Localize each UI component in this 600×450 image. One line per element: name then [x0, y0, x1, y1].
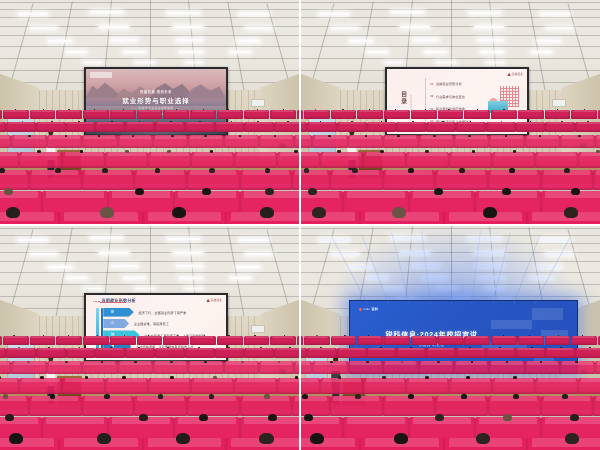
ceiling-light	[400, 26, 430, 28]
auditorium-seat	[307, 348, 337, 358]
audience-head	[381, 121, 383, 122]
logo: 高校就业	[206, 298, 222, 302]
audience-head	[50, 394, 56, 398]
audience-head	[380, 347, 382, 348]
audience-head	[260, 207, 274, 218]
lecture-hall-room: 把握机遇 规划未来 就业形势与职业选择 —— 高校毕业生就业指导讲座 —— 学生…	[0, 0, 299, 224]
audience-head	[434, 188, 443, 195]
auditorium-seat	[56, 110, 82, 119]
slide-title: 就业形势与职业选择	[86, 95, 227, 105]
audience-head	[198, 347, 200, 348]
audience-head	[509, 168, 515, 172]
audience-head	[312, 207, 326, 218]
ceiling-light	[48, 266, 72, 268]
auditorium-seat	[541, 170, 594, 189]
ceiling-tile-line	[0, 9, 299, 10]
audience-head	[558, 335, 559, 336]
auditorium-seat	[363, 378, 406, 394]
university-logo-icon	[90, 72, 112, 78]
audience-head	[295, 376, 299, 379]
auditorium-seat	[137, 110, 163, 119]
audience-head	[176, 109, 177, 110]
audience-head	[204, 135, 207, 137]
auditorium-seat	[541, 396, 594, 415]
audience-head	[257, 121, 259, 122]
ceiling-light	[30, 253, 57, 255]
audience-head	[231, 121, 233, 122]
audience-head	[18, 347, 20, 348]
audience-head	[397, 135, 400, 137]
audience-head	[560, 347, 562, 348]
auditorium-seat	[518, 110, 544, 119]
audience-head	[584, 109, 585, 110]
ceiling-light	[30, 27, 57, 29]
ceiling-light	[236, 266, 260, 268]
auditorium-seat	[571, 336, 597, 345]
decor-block	[532, 308, 564, 319]
auditorium-seat	[518, 336, 544, 345]
audience-head	[177, 335, 178, 336]
seat-row	[301, 348, 600, 358]
audience-head	[320, 121, 322, 122]
audience-head	[4, 188, 13, 195]
audience-head	[139, 121, 141, 122]
audience-head	[342, 109, 343, 110]
audience-head	[148, 335, 149, 336]
auditorium-seat	[297, 110, 299, 119]
auditorium-seat	[155, 348, 185, 358]
auditorium-seat	[274, 122, 299, 132]
audience-head	[167, 347, 169, 348]
auditorium-seat	[191, 378, 234, 394]
auditorium-seat	[578, 378, 600, 394]
audience-head	[241, 361, 244, 363]
ceiling-light	[540, 13, 570, 15]
auditorium-seat	[125, 122, 155, 132]
auditorium-seat	[226, 212, 299, 224]
audience-head	[501, 121, 503, 122]
slide-subtitle: 把握机遇 规划未来	[86, 89, 227, 94]
auditorium-seat	[226, 438, 299, 450]
auditorium-seat	[560, 361, 595, 374]
auditorium-seat	[438, 336, 464, 345]
audience-head	[155, 168, 161, 172]
audience-head	[135, 188, 144, 195]
ceiling-tile-line	[301, 228, 600, 229]
ceiling-tile-line	[0, 228, 299, 229]
auditorium-seat	[11, 361, 46, 374]
seat-row	[0, 122, 299, 132]
audience-head	[410, 347, 412, 348]
logo-mark-icon	[507, 73, 511, 77]
auditorium-seat	[491, 110, 517, 119]
ceiling-light	[176, 265, 203, 267]
auditorium-seat	[301, 135, 312, 148]
ceiling-tile-line	[301, 35, 600, 36]
audience-head	[365, 135, 368, 137]
auditorium-seat	[330, 396, 383, 415]
audience-head	[228, 335, 229, 336]
audience-head	[102, 168, 108, 172]
auditorium-seat	[47, 135, 82, 148]
audience-head	[503, 335, 504, 336]
auditorium-seat	[406, 152, 449, 168]
seat-row	[301, 170, 600, 189]
ceiling-light	[99, 26, 129, 28]
audience-head	[320, 347, 322, 348]
auditorium-seat	[337, 122, 367, 132]
audience-seating	[0, 108, 299, 224]
auditorium-seat	[593, 396, 600, 415]
ceiling-light	[477, 39, 504, 41]
audience-head	[513, 394, 519, 398]
audience-seating	[301, 108, 600, 224]
ceiling-light	[123, 51, 147, 52]
auditorium-seat	[525, 135, 560, 148]
auditorium-seat	[0, 212, 59, 224]
seat-row	[0, 396, 299, 415]
auditorium-seat	[11, 135, 46, 148]
audience-head	[506, 361, 509, 363]
audience-head	[0, 376, 1, 379]
auditorium-seat	[143, 438, 226, 450]
audience-head	[284, 335, 285, 336]
seat-row	[0, 438, 299, 450]
audience-head	[425, 150, 429, 153]
seat-row	[301, 336, 600, 345]
ceiling-light	[349, 40, 373, 42]
wall-notice	[251, 325, 265, 334]
ceiling-light	[385, 288, 403, 289]
audience-head	[564, 207, 578, 218]
auditorium-seat	[187, 396, 240, 415]
audience-head	[433, 135, 436, 137]
auditorium-seat	[464, 110, 490, 119]
auditorium-seat	[0, 135, 11, 148]
audience-head	[259, 433, 273, 444]
auditorium-seat	[6, 122, 36, 132]
auditorium-seat	[83, 336, 109, 345]
auditorium-seat	[545, 336, 571, 345]
ceiling-light	[537, 40, 561, 42]
auditorium-seat	[491, 336, 517, 345]
audience-head	[442, 121, 444, 122]
audience-head	[449, 335, 450, 336]
auditorium-seat	[492, 152, 535, 168]
ceiling-light	[391, 11, 424, 13]
audience-seating	[301, 334, 600, 450]
auditorium-seat	[0, 170, 29, 189]
warning-icon: ⚠	[110, 321, 114, 326]
ceiling-light	[230, 51, 251, 52]
ceiling-light	[537, 266, 561, 268]
auditorium-seat	[545, 110, 571, 119]
bullet-dots-icon	[93, 301, 100, 303]
photo-collage: 把握机遇 规划未来 就业形势与职业选择 —— 高校毕业生就业指导讲座 —— 学生…	[0, 0, 600, 450]
audience-head	[459, 168, 465, 172]
auditorium-seat	[411, 110, 437, 119]
audience-head	[289, 347, 291, 348]
seat-row	[0, 348, 299, 358]
ceiling-tile-line	[0, 2, 299, 3]
auditorium-seat	[331, 336, 357, 345]
audience-head	[425, 376, 429, 379]
auditorium-seat	[82, 361, 117, 374]
ceiling-tile-line	[0, 46, 299, 47]
audience-head	[104, 394, 110, 398]
auditorium-seat	[330, 170, 383, 189]
auditorium-seat	[419, 361, 454, 374]
audience-head	[483, 207, 497, 218]
auditorium-seat	[489, 135, 524, 148]
ceiling-light	[239, 13, 269, 15]
auditorium-seat	[301, 438, 360, 450]
ceiling-light	[66, 277, 87, 278]
audience-head	[287, 121, 289, 122]
auditorium-seat	[188, 361, 223, 374]
auditorium-seat	[489, 361, 524, 374]
ceiling-light	[84, 62, 102, 63]
audience-head	[529, 109, 530, 110]
audience-head	[294, 150, 298, 153]
audience-head	[368, 335, 369, 336]
auditorium-seat	[449, 152, 492, 168]
ceiling-light	[239, 239, 269, 241]
auditorium-seat	[185, 348, 215, 358]
decor-block	[491, 320, 532, 329]
auditorium-seat	[62, 152, 105, 168]
ceiling-light	[167, 238, 200, 240]
audience-head	[13, 335, 14, 336]
ceiling-tile-line	[0, 261, 299, 262]
auditorium-seat	[301, 378, 320, 394]
auditorium-seat	[234, 378, 277, 394]
contents-heading: 目录	[399, 91, 405, 105]
panel-3-employment-analysis: 当前就业形势分析 高校就业 ⚙ 经济下行，全	[0, 226, 299, 450]
auditorium-seat	[516, 348, 546, 358]
audience-head	[472, 150, 476, 153]
audience-head	[65, 361, 68, 363]
auditorium-seat	[215, 348, 245, 358]
audience-head	[65, 135, 68, 137]
auditorium-seat	[118, 361, 153, 374]
auditorium-seat	[240, 170, 293, 189]
audience-head	[40, 376, 44, 379]
audience-head	[531, 347, 533, 348]
auditorium-seat	[426, 122, 456, 132]
wall-notice	[552, 99, 566, 108]
ceiling-light	[391, 237, 424, 239]
logo-text-cn: 锐科	[372, 307, 379, 311]
audience-head	[338, 376, 342, 379]
audience-head	[344, 335, 345, 336]
logo-text: 高校就业	[211, 298, 222, 302]
ceiling-light	[176, 39, 203, 41]
audience-head	[396, 335, 397, 336]
auditorium-seat	[185, 122, 215, 132]
auditorium-seat	[29, 170, 82, 189]
list-item: 01 当前就业形势分析	[430, 81, 479, 86]
ceiling-light	[18, 239, 48, 241]
ceiling-light	[245, 27, 272, 29]
auditorium-seat	[30, 336, 56, 345]
audience-head	[328, 135, 331, 137]
auditorium-seat	[575, 348, 600, 358]
auditorium-seat	[454, 135, 489, 148]
audience-head	[268, 414, 277, 421]
panel-4-campus-recruitment: ruiko 锐科 锐科信息·2024年校招宣讲 ·伴随我 职业站· 2024.4…	[301, 226, 600, 450]
audience-head	[380, 150, 384, 153]
audience-head	[412, 121, 414, 122]
audience-head	[134, 361, 137, 363]
audience-head	[589, 347, 591, 348]
auditorium-seat	[578, 152, 600, 168]
audience-head	[97, 433, 111, 444]
ceiling-light	[531, 51, 552, 52]
auditorium-seat	[411, 336, 437, 345]
audience-head	[561, 121, 563, 122]
auditorium-seat	[516, 122, 546, 132]
auditorium-seat	[66, 348, 96, 358]
audience-head	[304, 414, 313, 421]
audience-head	[97, 335, 98, 336]
list-item: ⚠ 企业融资难，停招辞员工	[103, 319, 220, 328]
ceiling-light	[367, 51, 388, 52]
ceiling-light	[179, 51, 203, 52]
seat-row	[301, 110, 600, 119]
auditorium-seat	[187, 170, 240, 189]
audience-head	[274, 135, 277, 137]
logo-dot-icon	[359, 308, 362, 311]
audience-head	[122, 376, 126, 379]
auditorium-seat	[259, 361, 294, 374]
auditorium-seat	[270, 336, 296, 345]
seat-row	[301, 135, 600, 148]
audience-head	[461, 394, 467, 398]
ceiling-light	[331, 253, 358, 255]
auditorium-seat	[304, 110, 330, 119]
lecture-hall-room: 高校就业 目录 CONTENTS 01 当前就业形势分析 02 行业需求与岗位变…	[301, 0, 600, 224]
auditorium-seat	[190, 336, 216, 345]
audience-head	[203, 109, 204, 110]
audience-head	[570, 414, 579, 421]
ceiling-light	[436, 288, 457, 289]
audience-head	[264, 394, 270, 398]
seat-row	[0, 212, 299, 224]
audience-head	[51, 121, 53, 122]
auditorium-seat	[277, 378, 299, 394]
auditorium-seat	[95, 122, 125, 132]
auditorium-seat	[163, 336, 189, 345]
ceiling-light	[18, 13, 48, 15]
auditorium-seat	[82, 170, 135, 189]
seat-row	[0, 135, 299, 148]
auditorium-seat	[191, 152, 234, 168]
audience-head	[172, 207, 186, 218]
ceiling-light	[135, 288, 156, 289]
arrow-shape: ⚠	[103, 319, 129, 328]
audience-head	[100, 207, 114, 218]
audience-head	[265, 188, 274, 195]
auditorium-seat	[560, 135, 595, 148]
auditorium-seat	[575, 122, 600, 132]
audience-head	[596, 150, 600, 153]
auditorium-seat	[357, 110, 383, 119]
audience-head	[471, 361, 474, 363]
seat-row	[0, 170, 299, 189]
audience-head	[199, 121, 201, 122]
auditorium-seat	[244, 348, 274, 358]
auditorium-seat	[396, 122, 426, 132]
auditorium-seat	[571, 110, 597, 119]
audience-head	[22, 121, 24, 122]
ceiling-light	[385, 62, 403, 63]
auditorium-seat	[110, 336, 136, 345]
audience-head	[254, 335, 255, 336]
audience-head	[228, 109, 229, 110]
auditorium-seat	[148, 378, 191, 394]
auditorium-seat	[56, 336, 82, 345]
seat-row	[0, 378, 299, 394]
ceiling-light	[135, 62, 156, 63]
logo: 高校就业	[507, 72, 523, 76]
ceiling-light	[167, 12, 200, 14]
ceiling-light	[540, 239, 570, 241]
audience-head	[85, 376, 89, 379]
auditorium-seat	[217, 110, 243, 119]
auditorium-seat	[301, 110, 303, 119]
auditorium-seat	[320, 378, 363, 394]
audience-head	[351, 121, 353, 122]
auditorium-seat	[486, 348, 516, 358]
audience-head	[80, 150, 84, 153]
ceiling-tile-line	[0, 58, 299, 59]
auditorium-seat	[0, 438, 59, 450]
audience-head	[408, 168, 414, 172]
auditorium-seat	[486, 122, 516, 132]
auditorium-seat	[0, 336, 2, 345]
audience-head	[366, 361, 369, 363]
auditorium-seat	[535, 378, 578, 394]
audience-head	[422, 335, 423, 336]
auditorium-seat	[454, 361, 489, 374]
auditorium-seat	[527, 438, 600, 450]
item-number: 01	[430, 82, 433, 86]
ceiling-light	[480, 51, 504, 52]
auditorium-seat	[244, 122, 274, 132]
audience-head	[43, 109, 44, 110]
auditorium-seat	[153, 135, 188, 148]
seat-row	[301, 152, 600, 168]
audience-head	[167, 150, 171, 153]
auditorium-seat	[270, 110, 296, 119]
auditorium-seat	[348, 361, 383, 374]
auditorium-seat	[545, 348, 575, 358]
audience-head	[9, 433, 23, 444]
auditorium-seat	[464, 336, 490, 345]
auditorium-seat	[62, 378, 105, 394]
item-number: 02	[430, 94, 433, 98]
audience-head	[48, 347, 50, 348]
auditorium-seat	[320, 152, 363, 168]
audience-head	[539, 135, 542, 137]
auditorium-seat	[307, 122, 337, 132]
auditorium-seat	[36, 348, 66, 358]
ceiling-light	[468, 12, 501, 14]
audience-head	[199, 414, 208, 421]
audience-head	[441, 347, 443, 348]
ceiling-tile-line	[301, 9, 600, 10]
